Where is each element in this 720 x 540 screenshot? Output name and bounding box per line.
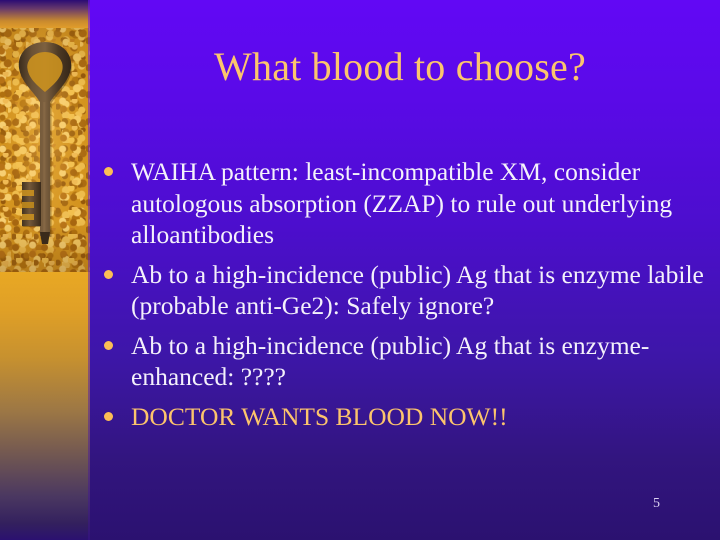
page-title: What blood to choose? <box>100 44 700 90</box>
list-item-text: WAIHA pattern: least-incompatible XM, co… <box>131 156 712 251</box>
bullet-marker-icon <box>104 412 113 421</box>
sidebar-divider <box>88 0 90 540</box>
list-item: WAIHA pattern: least-incompatible XM, co… <box>104 156 712 251</box>
list-item: Ab to a high-incidence (public) Ag that … <box>104 330 712 393</box>
presentation-slide: What blood to choose? WAIHA pattern: lea… <box>0 0 720 540</box>
key-highlight <box>43 102 45 234</box>
list-item-text: Ab to a high-incidence (public) Ag that … <box>131 259 712 322</box>
slide-number: 5 <box>653 496 660 512</box>
list-item-text: Ab to a high-incidence (public) Ag that … <box>131 330 712 393</box>
key-tooth-notch <box>22 214 34 220</box>
list-item: DOCTOR WANTS BLOOD NOW!! <box>104 401 712 433</box>
key-photograph <box>0 28 90 274</box>
bullet-marker-icon <box>104 341 113 350</box>
key-tooth-notch <box>22 190 34 196</box>
key-tooth-notch <box>22 202 34 208</box>
key-icon <box>0 28 90 274</box>
sidebar-top-gradient <box>0 0 90 30</box>
list-item-text-emphasis: DOCTOR WANTS BLOOD NOW!! <box>131 401 712 433</box>
sidebar-decoration <box>0 0 90 540</box>
bullet-marker-icon <box>104 270 113 279</box>
key-tip <box>40 232 50 244</box>
bullet-list: WAIHA pattern: least-incompatible XM, co… <box>104 156 712 440</box>
list-item: Ab to a high-incidence (public) Ag that … <box>104 259 712 322</box>
bullet-marker-icon <box>104 167 113 176</box>
sidebar-bottom-gradient <box>0 272 90 540</box>
